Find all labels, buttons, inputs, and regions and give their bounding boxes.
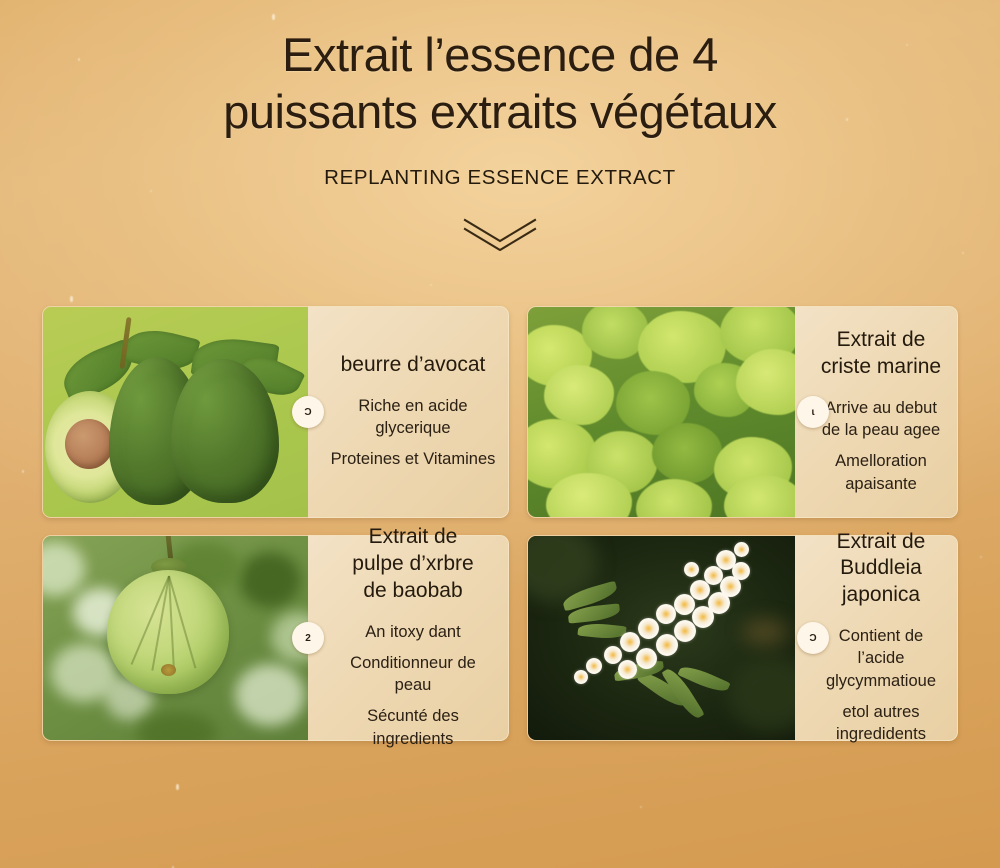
bullet-item: Proteines et Vitamines [331,448,496,470]
card-bullets-4: Contient de l’acide glycymmatioue etol a… [817,625,945,745]
bullet-line: An itoxy dant [330,621,496,643]
extract-cards-grid: beurre d’avocat Riche en acide glyceriqu… [42,306,958,741]
bullet-item: Riche en acide glycerique [331,395,496,440]
buddleia-japonica-photo [527,535,795,741]
card-bullets-3: An itoxy dant Conditionneur de peau Sécu… [330,621,496,750]
bullet-line: Riche en acide [331,395,496,417]
card-heading-1: beurre d’avocat [341,352,486,379]
card-cell-1: beurre d’avocat Riche en acide glyceriqu… [42,306,509,518]
bullet-item: Contient de l’acide glycymmatioue [817,625,945,692]
chevron-down-icon [461,217,539,251]
bullet-line: etol autres [817,701,945,723]
criste-marine-photo [527,306,795,518]
bullet-line: de la peau agee [817,419,945,441]
card-cell-2: Extrait de criste marine Arrive au debut… [509,306,958,518]
extract-card-buddleia[interactable]: Extrait de Buddleia japonica Contient de… [527,535,958,741]
bullet-item: Conditionneur de peau [330,652,496,697]
avocado-photo [42,306,308,518]
heading-line: Extrait de [352,524,473,551]
bullet-line: Proteines et Vitamines [331,448,496,470]
card-bullets-1: Riche en acide glycerique Proteines et V… [331,395,496,471]
header: Extrait l’essence de 4 puissants extrait… [0,0,1000,251]
baobab-text-panel: Extrait de pulpe d’xrbre de baobab An it… [308,535,509,741]
bullet-line: ingredidents [817,723,945,745]
bullet-line: Sécunté des ingredients [330,705,496,750]
card-badge-4[interactable]: Ɔ [797,622,829,654]
card-badge-2[interactable]: ɩ [797,396,829,428]
heading-line: Extrait de [817,529,945,556]
card-heading-2: Extrait de criste marine [821,327,941,381]
extract-card-baobab[interactable]: Extrait de pulpe d’xrbre de baobab An it… [42,535,509,741]
card-heading-4: Extrait de Buddleia japonica [817,529,945,610]
bullet-line: glycymmatioue [817,670,945,692]
section-divider [0,217,1000,251]
bullet-item: Amelloration apaisante [817,450,945,495]
bullet-item: An itoxy dant [330,621,496,643]
page-title-line-1: Extrait l’essence de 4 [0,26,1000,83]
card-cell-4: Extrait de Buddleia japonica Contient de… [509,535,958,741]
baobab-fruit-photo [42,535,308,741]
heading-line: pulpe d’xrbre [352,551,473,578]
card-bullets-2: Arrive au debut de la peau agee Amellora… [817,397,945,495]
extract-card-criste-marine[interactable]: Extrait de criste marine Arrive au debut… [527,306,958,518]
bullet-line: Conditionneur de peau [330,652,496,697]
bullet-line: Contient de l’acide [817,625,945,670]
extract-card-avocado[interactable]: beurre d’avocat Riche en acide glyceriqu… [42,306,509,518]
heading-line: beurre d’avocat [341,352,486,379]
page-title: Extrait l’essence de 4 puissants extrait… [0,26,1000,141]
card-badge-1[interactable]: Ɔ [292,396,324,428]
page-title-line-2: puissants extraits végétaux [0,83,1000,140]
card-cell-3: Extrait de pulpe d’xrbre de baobab An it… [42,535,509,741]
card-badge-3[interactable]: 2 [292,622,324,654]
bullet-line: glycerique [331,417,496,439]
bullet-item: etol autres ingredidents [817,701,945,746]
heading-line: de baobab [352,578,473,605]
bullet-item: Arrive au debut de la peau agee [817,397,945,442]
bullet-line: Arrive au debut [817,397,945,419]
heading-line: Buddleia japonica [817,555,945,609]
heading-line: criste marine [821,354,941,381]
bullet-line: Amelloration apaisante [817,450,945,495]
avocado-text-panel: beurre d’avocat Riche en acide glyceriqu… [308,306,509,518]
bullet-item: Sécunté des ingredients [330,705,496,750]
card-heading-3: Extrait de pulpe d’xrbre de baobab [352,524,473,605]
heading-line: Extrait de [821,327,941,354]
page-subtitle: REPLANTING ESSENCE EXTRACT [0,166,1000,190]
